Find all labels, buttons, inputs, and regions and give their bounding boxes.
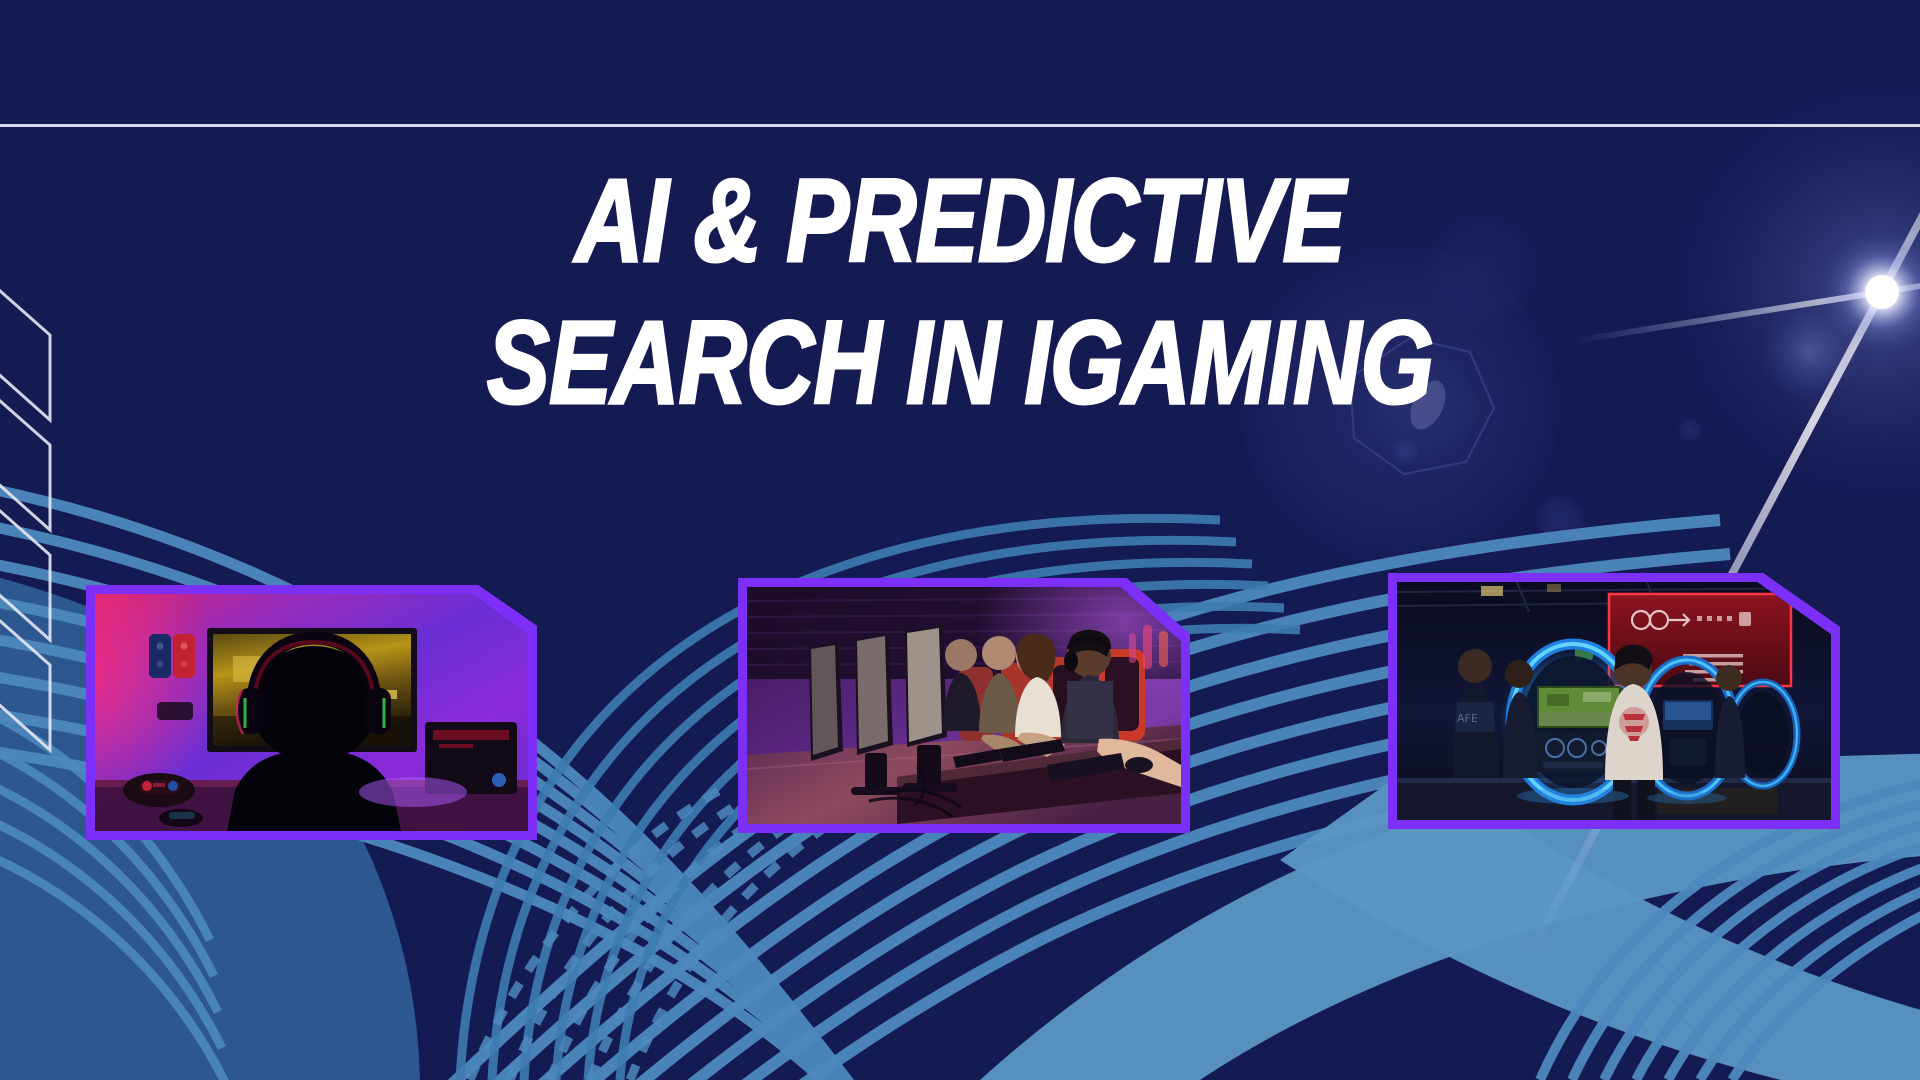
photo-card-esports-arena[interactable] xyxy=(738,578,1190,833)
svg-text:AFE: AFE xyxy=(1457,712,1478,725)
photo-arcade-vr-rigs-art: AFE xyxy=(1397,582,1831,820)
photo-gamer-headset-art xyxy=(95,594,528,831)
photo-card-gamer-headset[interactable] xyxy=(86,585,537,840)
title-slide: AI & Predictive Search in iGaming xyxy=(0,0,1920,1080)
photo-esports-arena xyxy=(747,587,1181,824)
photo-esports-arena-art xyxy=(747,587,1181,824)
photo-arcade-vr-rigs: AFE xyxy=(1397,582,1831,820)
photo-card-arcade-vr-rigs[interactable]: AFE xyxy=(1388,573,1840,829)
photo-gallery: AFE xyxy=(0,0,1920,1080)
photo-gamer-headset xyxy=(95,594,528,831)
